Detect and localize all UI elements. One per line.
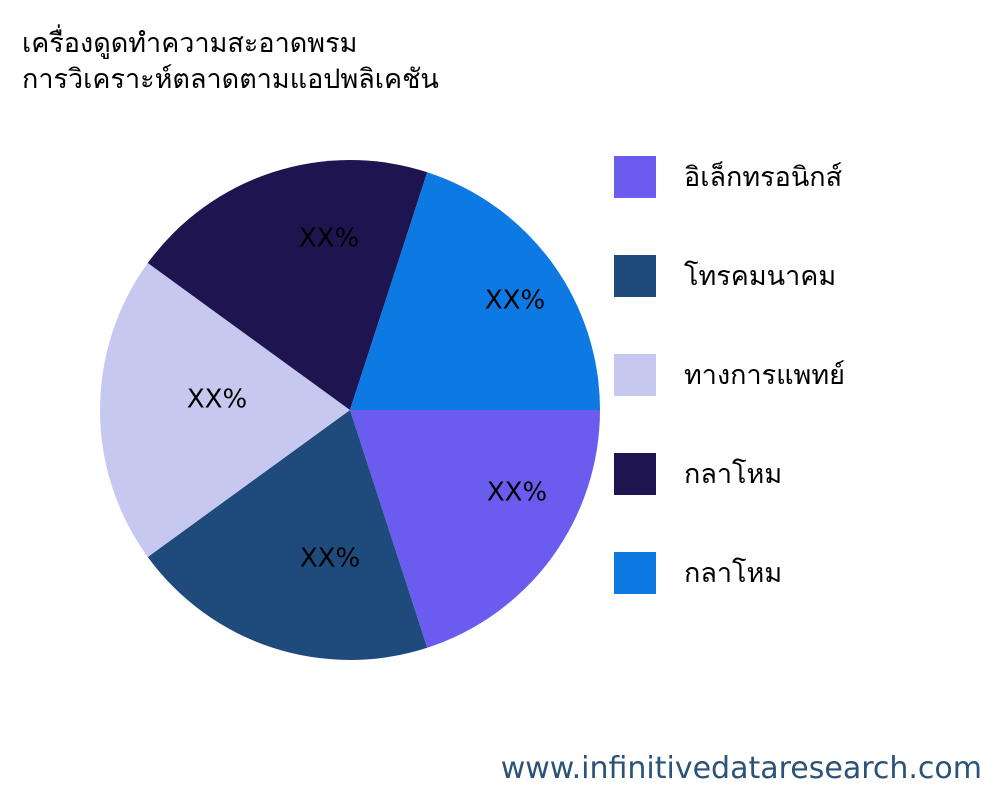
pie-slice-label: XX% [299, 224, 359, 254]
legend-item-label: กลาโหม [684, 560, 782, 587]
legend-color-swatch [614, 552, 656, 594]
legend-color-swatch [614, 354, 656, 396]
legend-color-swatch [614, 453, 656, 495]
legend-item-label: ทางการแพทย์ [684, 362, 845, 389]
pie-slice-label: XX% [485, 286, 545, 316]
legend-item[interactable]: กลาโหม [614, 452, 994, 496]
legend-item[interactable]: โทรคมนาคม [614, 254, 994, 298]
legend-color-swatch [614, 156, 656, 198]
pie-slice-label: XX% [300, 544, 360, 574]
pie-slice-label: XX% [187, 385, 247, 415]
chart-legend: อิเล็กทรอนิกส์โทรคมนาคมทางการแพทย์กลาโหม… [614, 155, 994, 595]
legend-item-label: โทรคมนาคม [684, 263, 836, 290]
chart-page: เครื่องดูดทำความสะอาดพรม การวิเคราะห์ตลา… [0, 0, 1000, 800]
legend-item[interactable]: กลาโหม [614, 551, 994, 595]
legend-color-swatch [614, 255, 656, 297]
pie-slice-label: XX% [487, 478, 547, 508]
source-url: www.infinitivedataresearch.com [501, 751, 982, 786]
legend-item[interactable]: ทางการแพทย์ [614, 353, 994, 397]
legend-item[interactable]: อิเล็กทรอนิกส์ [614, 155, 994, 199]
legend-item-label: อิเล็กทรอนิกส์ [684, 164, 842, 191]
legend-item-label: กลาโหม [684, 461, 782, 488]
